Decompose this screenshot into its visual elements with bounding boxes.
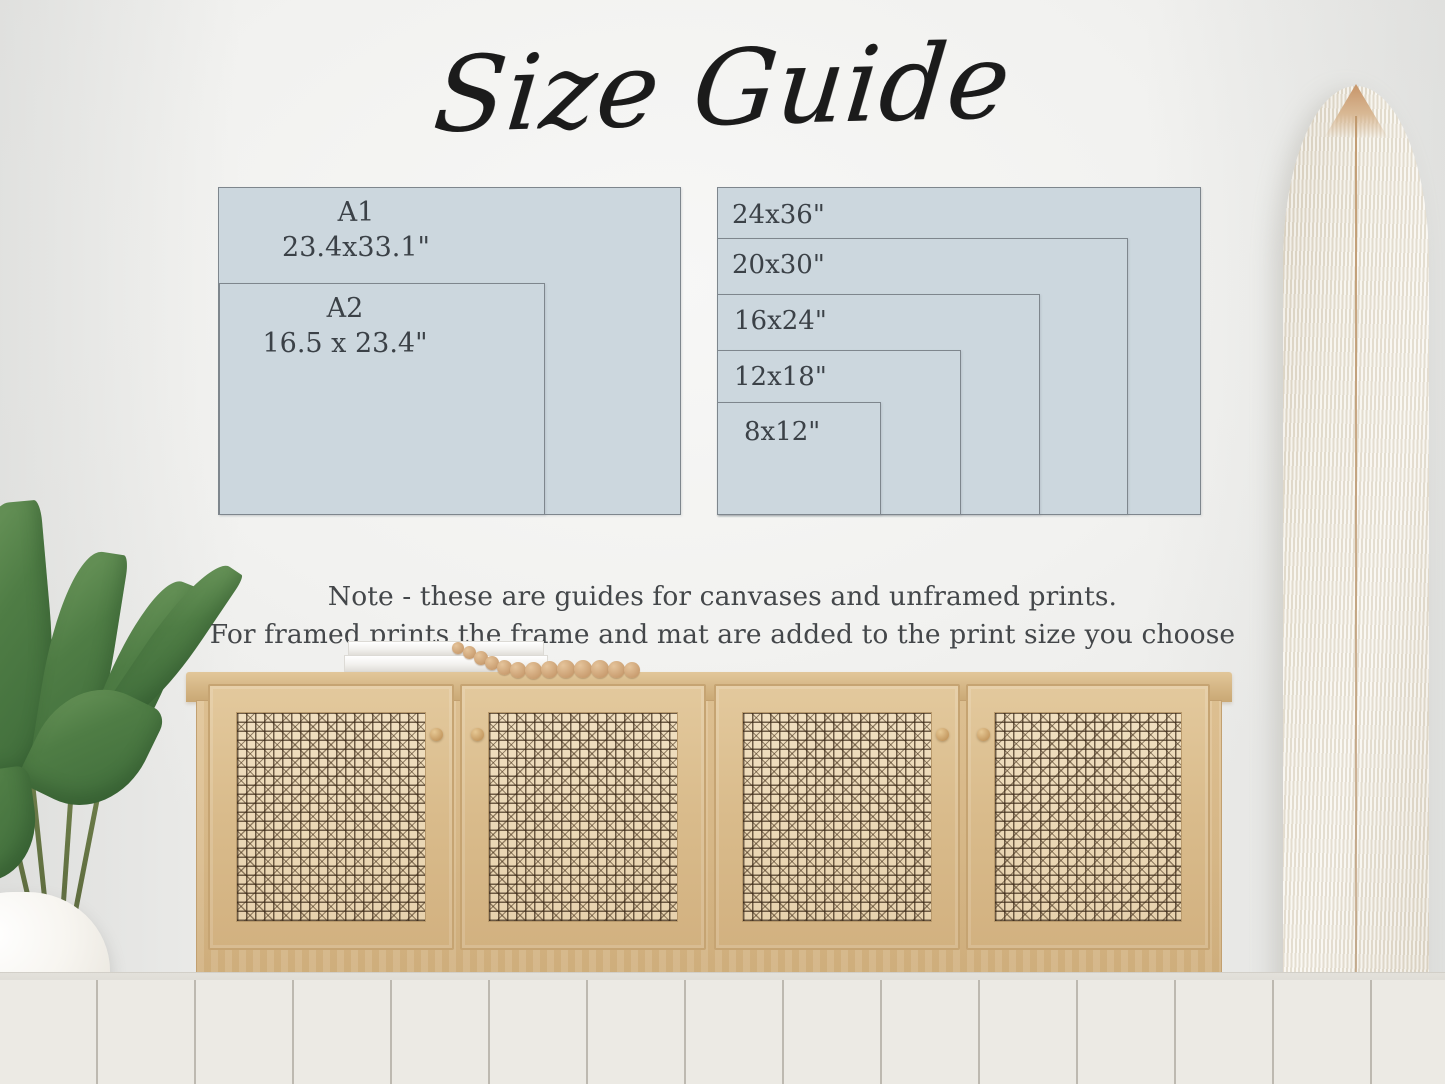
cabinet-door-4[interactable] <box>966 684 1210 950</box>
cane-webbing-panel <box>236 712 426 922</box>
size-label-a2-dimensions: 16.5 x 23.4" <box>230 327 460 362</box>
door-knob[interactable] <box>471 728 484 741</box>
bead <box>541 661 558 678</box>
size-label-16x24: 16x24" <box>734 305 827 338</box>
bead <box>591 660 609 678</box>
size-label-12x18: 12x18" <box>734 361 827 394</box>
guide-note-line-2: For framed prints the frame and mat are … <box>0 616 1445 654</box>
door-knob[interactable] <box>936 728 949 741</box>
door-knob[interactable] <box>430 728 443 741</box>
size-label-a1-dimensions: 23.4x33.1" <box>241 231 471 266</box>
wooden-bead-garland <box>452 640 642 678</box>
cane-webbing-panel <box>488 712 678 922</box>
room-scene: Size Guide A1 23.4x33.1" A2 16.5 x 23.4"… <box>0 0 1445 1084</box>
size-label-24x36: 24x36" <box>732 199 825 232</box>
bead <box>574 660 592 678</box>
size-label-a1: A1 23.4x33.1" <box>241 196 471 265</box>
bead <box>525 662 542 679</box>
size-rect-8x12[interactable]: 8x12" <box>717 402 881 515</box>
cabinet-door-1[interactable] <box>208 684 454 950</box>
cabinet-door-2[interactable] <box>460 684 706 950</box>
cabinet-door-3[interactable] <box>714 684 960 950</box>
bead <box>557 660 575 678</box>
plank-floor <box>0 980 1445 1084</box>
size-rect-a2[interactable]: A2 16.5 x 23.4" <box>219 283 545 515</box>
guide-note-line-1: Note - these are guides for canvases and… <box>0 578 1445 616</box>
size-label-20x30: 20x30" <box>732 249 825 282</box>
surfboard <box>1283 86 1429 1064</box>
bead <box>608 661 625 678</box>
imperial-inches-chart: 24x36" 20x30" 16x24" 12x18" 8x12" <box>717 187 1201 515</box>
bead <box>510 662 526 678</box>
bead <box>624 662 640 678</box>
size-label-a1-name: A1 <box>338 197 375 228</box>
cane-webbing-panel <box>994 712 1182 922</box>
size-label-a2: A2 16.5 x 23.4" <box>230 292 460 361</box>
size-label-8x12: 8x12" <box>744 416 820 449</box>
metric-a-series-chart: A1 23.4x33.1" A2 16.5 x 23.4" <box>218 187 681 515</box>
cane-webbing-panel <box>742 712 932 922</box>
door-knob[interactable] <box>977 728 990 741</box>
guide-note: Note - these are guides for canvases and… <box>0 578 1445 653</box>
size-label-a2-name: A2 <box>327 293 364 324</box>
